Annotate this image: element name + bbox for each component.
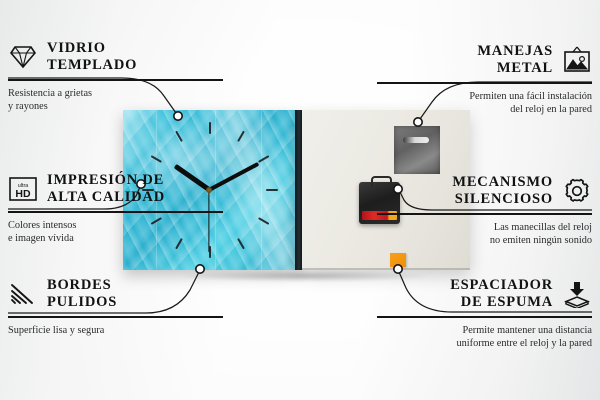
feature-manejas-metal: MANEJAS METAL Permiten una fácil instala… <box>377 43 592 117</box>
divider <box>8 316 223 317</box>
svg-text:HD: HD <box>15 188 31 200</box>
feature-description: Superficie lisa y segura <box>8 324 223 338</box>
hanging-frame-icon <box>562 45 592 75</box>
feature-description: Permite mantener una distancia uniforme … <box>377 324 592 352</box>
feature-title: BORDES PULIDOS <box>47 277 117 311</box>
feature-description: Las manecillas del reloj no emiten ningú… <box>377 221 592 249</box>
ultra-hd-icon: ultra HD <box>8 174 38 204</box>
divider <box>377 82 592 83</box>
feature-title: MANEJAS METAL <box>477 43 553 77</box>
feature-title: VIDRIO TEMPLADO <box>47 40 137 74</box>
feature-title: IMPRESIÓN DE ALTA CALIDAD <box>47 172 165 206</box>
feature-vidrio-templado: VIDRIO TEMPLADO Resistencia a grietas y … <box>8 40 223 114</box>
divider <box>377 316 592 317</box>
feature-mecanismo-silencioso: MECANISMO SILENCIOSO Las manecillas del … <box>377 174 592 248</box>
divider <box>8 211 223 212</box>
divider <box>377 213 592 214</box>
polished-edges-icon <box>8 279 38 309</box>
feature-title: MECANISMO SILENCIOSO <box>452 174 553 208</box>
foam-spacer-icon <box>562 279 592 309</box>
feature-description: Resistencia a grietas y rayones <box>8 87 223 115</box>
diamond-icon <box>8 42 38 72</box>
feature-bordes-pulidos: BORDES PULIDOS Superficie lisa y segura <box>8 277 223 337</box>
divider <box>8 79 223 80</box>
gear-icon <box>562 176 592 206</box>
feature-title: ESPACIADOR DE ESPUMA <box>450 277 553 311</box>
feature-espaciador-espuma: ESPACIADOR DE ESPUMA Permite mantener un… <box>377 277 592 351</box>
feature-description: Colores intensos e imagen vívida <box>8 219 223 247</box>
infographic-canvas: VIDRIO TEMPLADO Resistencia a grietas y … <box>0 0 600 400</box>
feature-impresion-alta-calidad: ultra HD IMPRESIÓN DE ALTA CALIDAD Color… <box>8 172 223 246</box>
feature-description: Permiten una fácil instalación del reloj… <box>377 90 592 118</box>
